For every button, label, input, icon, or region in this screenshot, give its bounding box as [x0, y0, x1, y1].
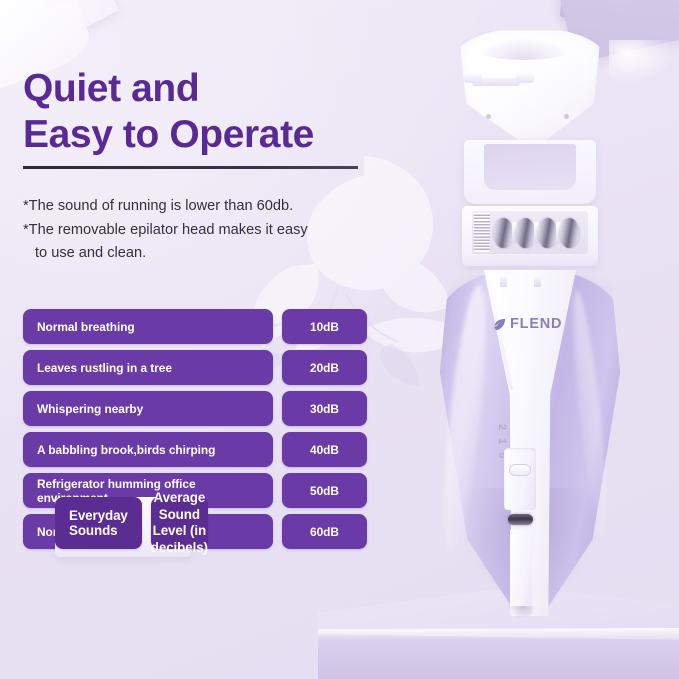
headline-line-2: Easy to Operate [23, 112, 423, 158]
head-foot-right [516, 74, 534, 83]
status-led-indicator [508, 514, 533, 525]
title-divider [23, 166, 358, 169]
table-row: Normal breathing 10dB [23, 309, 367, 344]
cap-dot-left [486, 114, 491, 119]
bullet-line-1: *The sound of running is lower than 60db… [23, 195, 353, 219]
table-header-row: Everyday Sounds Average Sound Level (in … [55, 497, 191, 557]
epilator-head-inner [472, 211, 588, 254]
table-header-level-line-2: Level (in decibels) [151, 523, 208, 556]
row-sound-label: Whispering nearby [23, 391, 273, 426]
tweezer-disc [494, 218, 513, 248]
leaf-icon [492, 317, 507, 332]
cap-highlight [476, 38, 572, 60]
head-mount-pin-left [500, 274, 507, 287]
head-mount-pin-right [534, 274, 541, 287]
cap-dot-right [564, 114, 569, 119]
feature-bullets: *The sound of running is lower than 60db… [23, 195, 353, 266]
row-sound-level: 40dB [282, 432, 367, 467]
brand-logo: FLEND [492, 314, 578, 334]
product-pedestal-edge [318, 628, 679, 640]
product-contact-shadow [508, 606, 536, 618]
head-foot-left [464, 74, 482, 83]
table-row: Leaves rustling in a tree 20dB [23, 350, 367, 385]
row-sound-label: Leaves rustling in a tree [23, 350, 273, 385]
product-infographic: Quiet and Easy to Operate *The sound of … [0, 0, 679, 679]
guard-opening [484, 144, 576, 190]
brand-name: FLEND [510, 316, 562, 332]
table-header-level-line-1: Average Sound [151, 490, 208, 523]
bullet-line-3: to use and clean. [23, 242, 353, 266]
row-sound-level: 20dB [282, 350, 367, 385]
sound-level-table: Everyday Sounds Average Sound Level (in … [23, 309, 367, 555]
page-title: Quiet and Easy to Operate [23, 66, 423, 158]
table-header-level: Average Sound Level (in decibels) [151, 497, 208, 549]
panel-lower-section [510, 530, 532, 616]
row-sound-level: 30dB [282, 391, 367, 426]
row-sound-label: A babbling brook,birds chirping [23, 432, 273, 467]
table-header-sounds: Everyday Sounds [55, 497, 142, 549]
comb-teeth [474, 213, 490, 252]
tweezer-disc [516, 218, 535, 248]
product-pedestal-face [318, 634, 679, 679]
headline-line-1: Quiet and [23, 66, 423, 112]
row-sound-level: 10dB [282, 309, 367, 344]
product-image: FLEND 2 1 0 [430, 18, 630, 618]
head-guard-frame [464, 140, 596, 204]
table-row: A babbling brook,birds chirping 40dB [23, 432, 367, 467]
row-sound-label: Normal breathing [23, 309, 273, 344]
power-slider-track[interactable] [504, 448, 536, 510]
head-feet [464, 74, 534, 83]
row-sound-level: 50dB [282, 473, 367, 508]
power-slider-thumb[interactable] [509, 464, 531, 476]
epilator-head [462, 206, 598, 266]
tweezer-disc [538, 218, 557, 248]
tweezer-disc [560, 218, 579, 248]
bullet-line-2: *The removable epilator head makes it ea… [23, 219, 353, 243]
table-row: Whispering nearby 30dB [23, 391, 367, 426]
row-sound-level: 60dB [282, 514, 367, 549]
